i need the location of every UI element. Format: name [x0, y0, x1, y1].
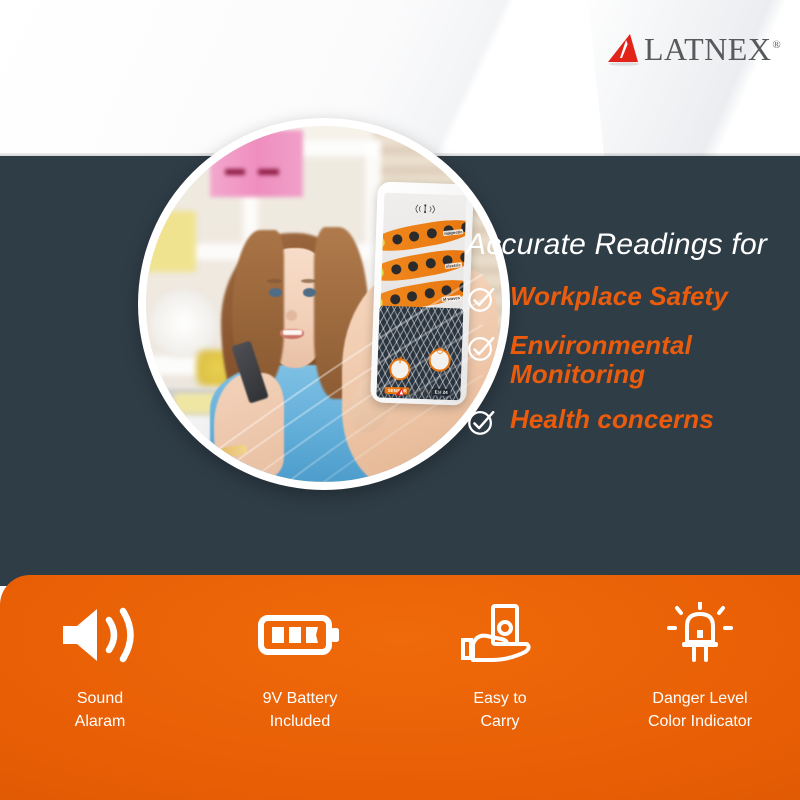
- brand-logo: LATNEX®: [604, 26, 781, 72]
- feature-icon-wrap: [57, 599, 143, 671]
- feature-icon-wrap: [457, 599, 543, 671]
- headline: Accurate Readings for: [466, 228, 792, 262]
- device-led: [389, 293, 400, 304]
- hero-copy: Accurate Readings for Workplace Safety E…: [466, 228, 792, 454]
- benefit-label: Workplace Safety: [510, 282, 728, 311]
- feature-label: Sound Alaram: [75, 687, 126, 733]
- device-label-electric: electric: [445, 262, 462, 269]
- power-icon[interactable]: ⏻: [428, 348, 451, 371]
- benefit-label: Health concerns: [510, 405, 714, 434]
- device-led: [407, 260, 418, 271]
- woman-eye-right: [303, 288, 316, 297]
- triangle-arrow-icon: [394, 386, 406, 397]
- logo-wordmark: LATNEX®: [644, 33, 781, 65]
- feature-danger-level-indicator: Danger Level Color Indicator: [600, 599, 800, 733]
- feature-battery: 9V Battery Included: [200, 599, 400, 733]
- feature-easy-to-carry: Easy to Carry: [400, 599, 600, 733]
- feature-list: Sound Alaram 9V Battery Included: [0, 599, 800, 733]
- photo-pink-box: [210, 130, 303, 198]
- check-circle-icon: [466, 284, 496, 314]
- device-led: [425, 257, 436, 268]
- header-sheen-decoration: [585, 0, 800, 156]
- hero-photo-frame: magnetic electric M waves ⏻ ✛ SENSOR EM …: [138, 118, 510, 490]
- feature-label: 9V Battery Included: [263, 687, 338, 733]
- logo-wordmark-text: LATNEX: [644, 31, 771, 67]
- benefit-item-environmental-monitoring: Environmental Monitoring: [466, 331, 792, 388]
- feature-label: Easy to Carry: [473, 687, 526, 733]
- feature-sound-alarm: Sound Alaram: [0, 599, 200, 733]
- device-brand-text: LATNEX: [406, 387, 443, 398]
- check-circle-icon: [466, 333, 496, 363]
- device-led: [379, 267, 385, 278]
- device-led: [390, 264, 401, 275]
- speaker-sound-icon: [57, 602, 143, 668]
- woman-nose: [286, 310, 297, 320]
- device-led: [406, 290, 417, 301]
- hero-photo: magnetic electric M waves ⏻ ✛ SENSOR EM …: [146, 126, 502, 482]
- device-led: [408, 230, 419, 241]
- hand-device-icon: [457, 602, 543, 668]
- target-icon[interactable]: ✛: [388, 358, 410, 380]
- benefit-item-workplace-safety: Workplace Safety: [466, 282, 792, 314]
- feature-bar: Sound Alaram 9V Battery Included: [0, 575, 800, 800]
- battery-icon: [257, 602, 343, 668]
- woman-teeth: [283, 330, 302, 335]
- antenna-icon: [411, 200, 438, 219]
- feature-icon-wrap: [657, 599, 743, 671]
- led-light-icon: [657, 602, 743, 668]
- feature-icon-wrap: [257, 599, 343, 671]
- product-infographic: LATNEX®: [0, 0, 800, 800]
- feature-label: Danger Level Color Indicator: [648, 687, 752, 733]
- device-led: [426, 227, 437, 238]
- check-circle-icon: [466, 407, 496, 437]
- photo-clock: [150, 290, 218, 358]
- photo-yellow-box: [146, 211, 196, 272]
- registered-mark: ®: [772, 39, 781, 51]
- device-led: [441, 284, 452, 295]
- triangle-arrow-icon: [604, 31, 646, 67]
- benefit-item-health-concerns: Health concerns: [466, 405, 792, 437]
- emf-meter-device: magnetic electric M waves ⏻ ✛ SENSOR EM …: [370, 181, 474, 405]
- device-led: [379, 237, 386, 248]
- benefit-label: Environmental Monitoring: [510, 331, 792, 388]
- device-led: [391, 234, 402, 245]
- device-led: [424, 287, 435, 298]
